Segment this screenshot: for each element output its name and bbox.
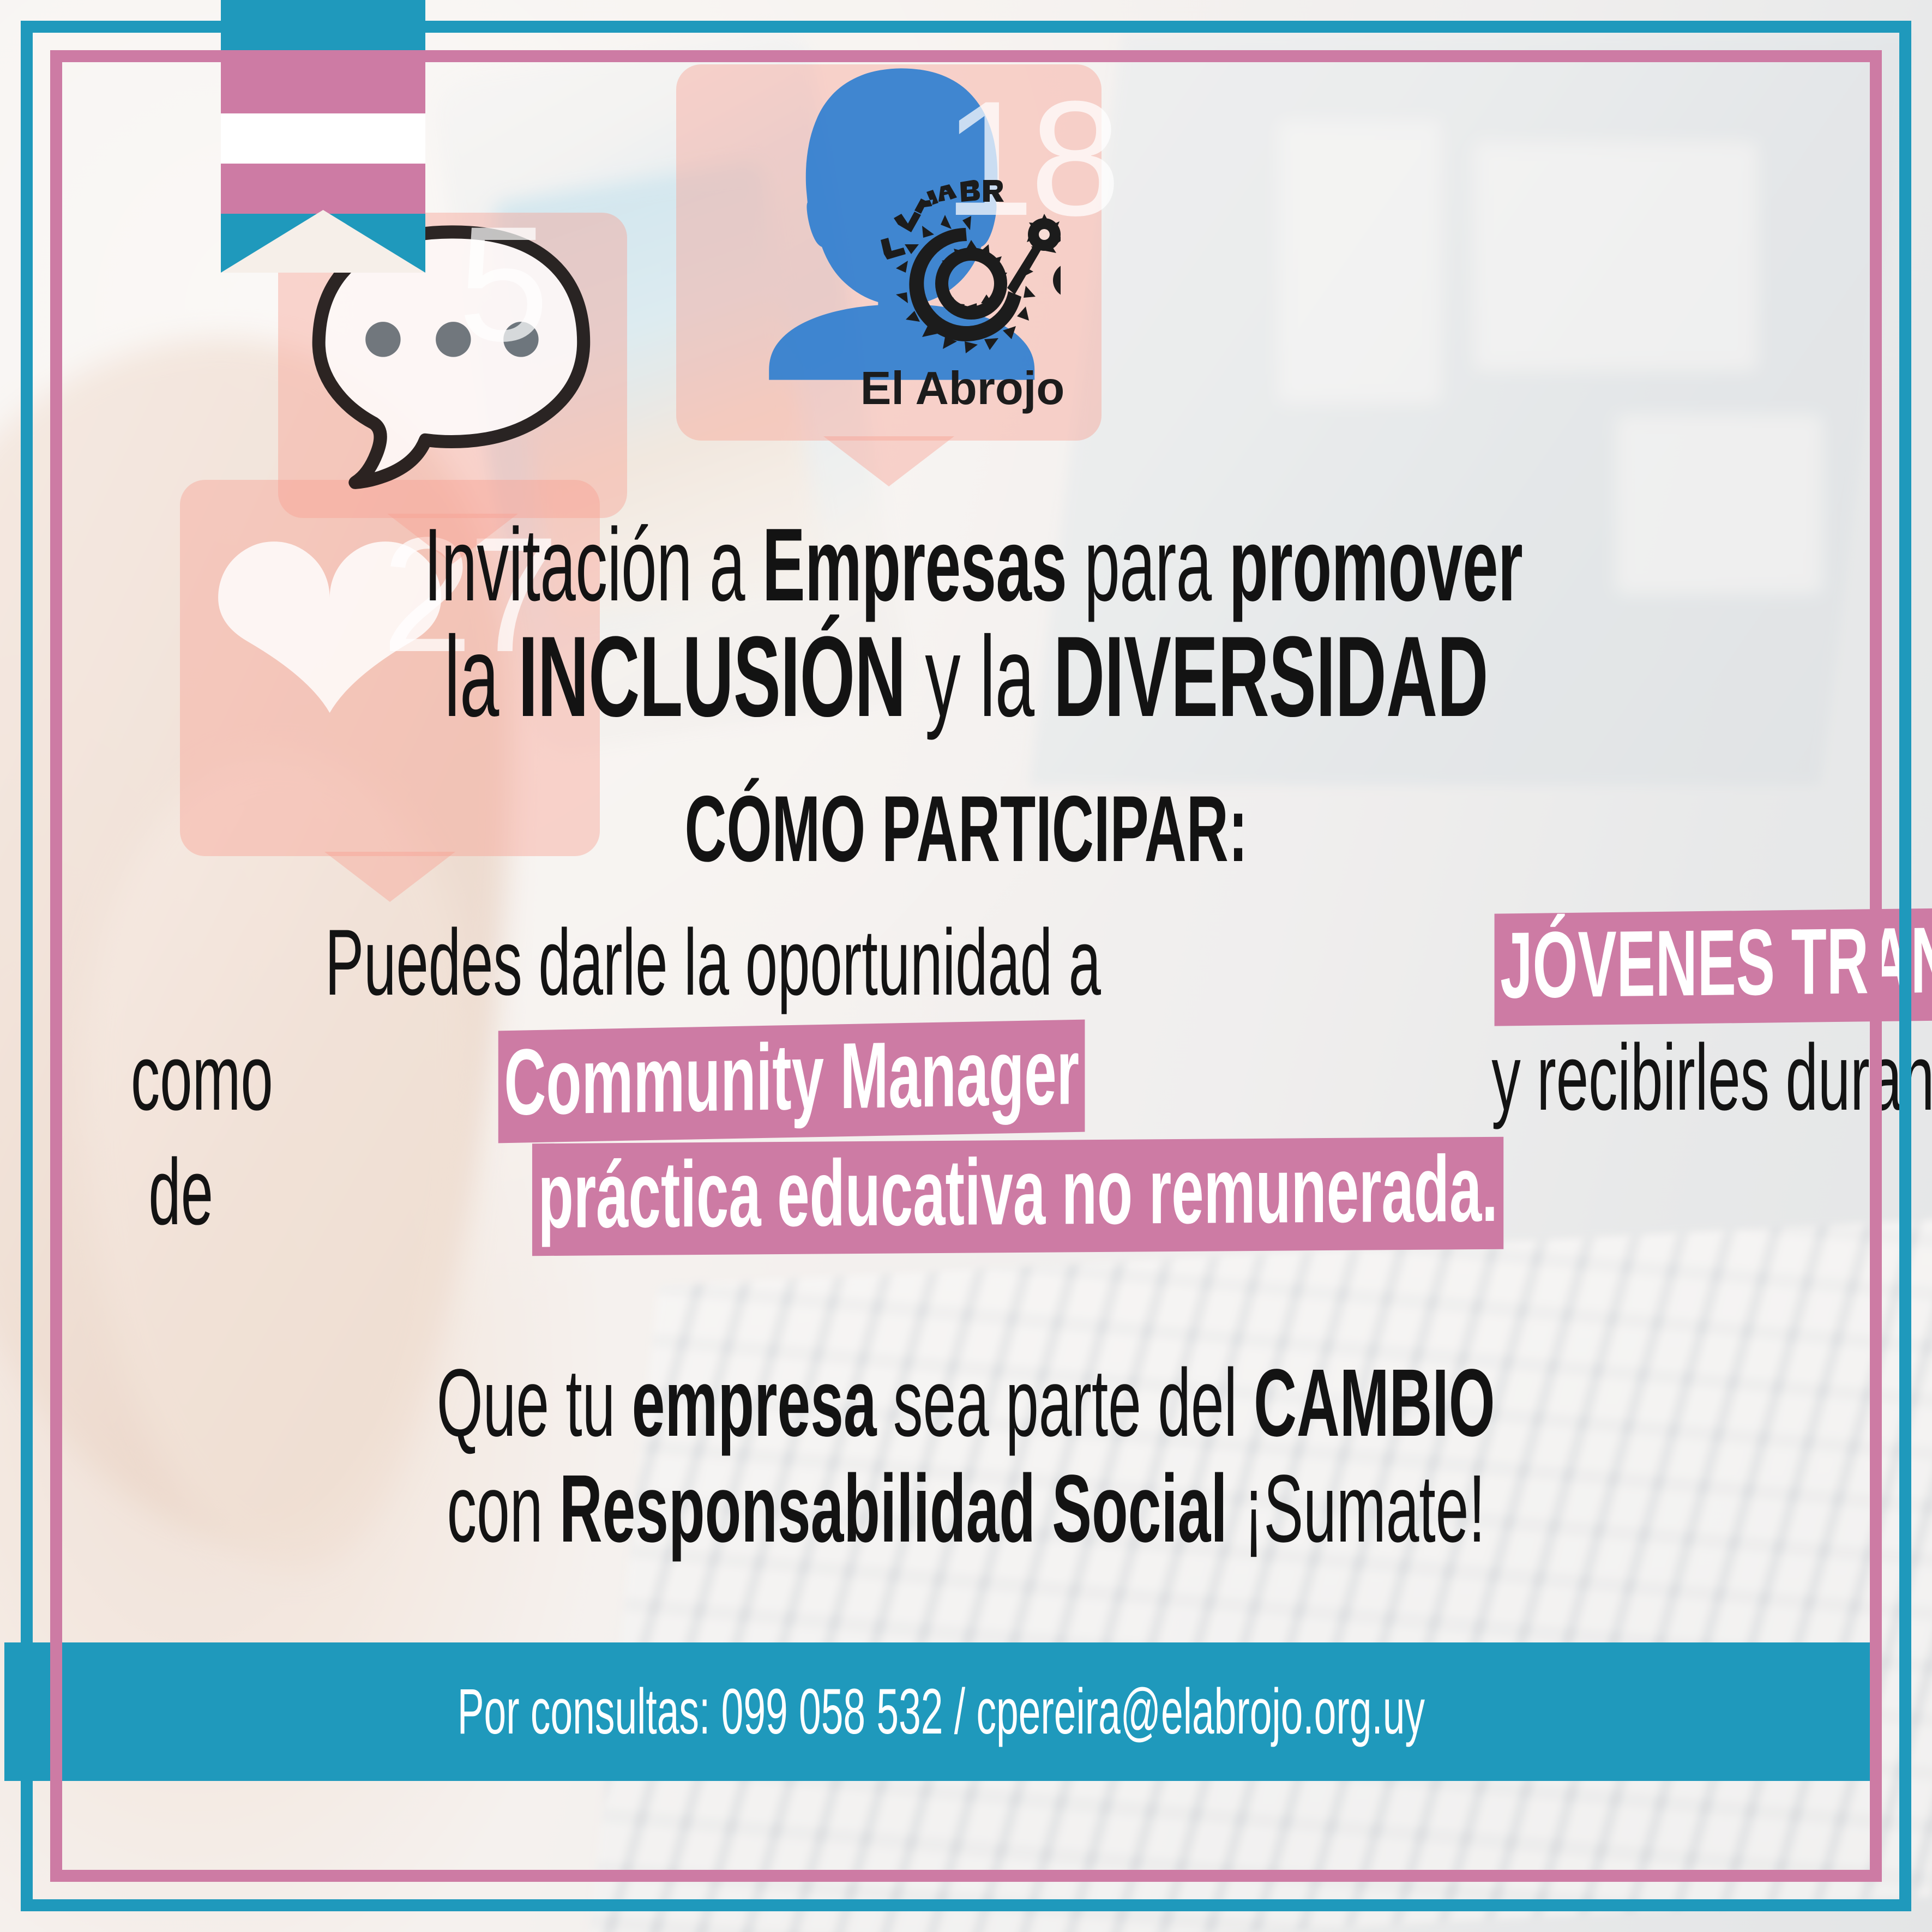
- closing-paragraph: Que tu empresa sea parte del CAMBIO con …: [87, 1351, 1845, 1562]
- closing-l2-b: Responsabilidad Social: [559, 1455, 1227, 1562]
- poster-content: Invitación a Empresas para promover la I…: [87, 513, 1845, 1562]
- ribbon-stripe-white: [221, 113, 425, 164]
- closing-l2-c: ¡Sumate!: [1227, 1455, 1485, 1562]
- closing-l2-a: con: [447, 1455, 559, 1562]
- transgender-pride-ribbon: [221, 0, 425, 273]
- highlight-community-manager: Community Manager: [498, 1020, 1085, 1143]
- ribbon-stripe-pink-bottom: [221, 164, 425, 214]
- poster-canvas: 👤 18 ❤ 27 💬 5: [0, 0, 1932, 1932]
- how-to-participate-title: CÓMO PARTICIPAR:: [87, 782, 1845, 876]
- body-l3-a: de: [148, 1142, 213, 1243]
- headline-l2-b: INCLUSIÓN: [518, 612, 906, 741]
- contact-footer-bar: Por consultas: 099 058 532 / cpereira@el…: [4, 1642, 1877, 1781]
- logo-wordmark: El Abrojo: [848, 362, 1077, 416]
- body-l2-b: y recibirles durante 50 horas: [1491, 1027, 1932, 1129]
- headline-l2-c: y la: [906, 612, 1054, 741]
- how-to-participate-label: CÓMO PARTICIPAR:: [684, 782, 1248, 876]
- body-line-1: Puedes darle la oportunidad a JÓVENES TR…: [87, 911, 1845, 1023]
- headline: Invitación a Empresas para promover la I…: [87, 513, 1845, 735]
- abrojo-burr-icon: [864, 164, 1061, 365]
- contact-info[interactable]: Por consultas: 099 058 532 / cpereira@el…: [161, 1675, 1722, 1749]
- headline-l2-a: la: [444, 612, 518, 741]
- closing-l1-a: Que tu: [437, 1350, 632, 1456]
- body-l2-a: como: [131, 1027, 273, 1129]
- headline-l1-a: Invitación a: [424, 507, 762, 623]
- headline-l1-c: para: [1067, 507, 1229, 623]
- closing-line-1: Que tu empresa sea parte del CAMBIO: [87, 1351, 1845, 1456]
- body-l1-a: Puedes darle la oportunidad a: [325, 912, 1101, 1014]
- highlight-jovenes-trans: JÓVENES TRANS: [1495, 907, 1932, 1026]
- headline-line-2: la INCLUSIÓN y la DIVERSIDAD: [87, 618, 1845, 735]
- headline-l2-d: DIVERSIDAD: [1054, 612, 1488, 741]
- comment-count: 5: [458, 202, 545, 365]
- closing-line-2: con Responsabilidad Social ¡Sumate!: [87, 1456, 1845, 1562]
- body-paragraph: Puedes darle la oportunidad a JÓVENES TR…: [87, 911, 1845, 1253]
- el-abrojo-logo: El Abrojo: [848, 164, 1077, 447]
- body-line-2: como Community Manager y recibirles dura…: [87, 1025, 1845, 1137]
- closing-l1-c: sea parte del: [877, 1350, 1254, 1456]
- closing-l1-d: CAMBIO: [1254, 1350, 1495, 1456]
- contact-info-text: Por consultas: 099 058 532 / cpereira@el…: [457, 1675, 1424, 1749]
- body-line-3: de práctica educativa no remunerada.: [87, 1140, 1845, 1253]
- headline-l1-b: Empresas: [762, 507, 1067, 623]
- ribbon-stripe-blue-top: [221, 0, 425, 60]
- headline-line-1: Invitación a Empresas para promover: [87, 513, 1845, 618]
- closing-l1-b: empresa: [632, 1350, 877, 1456]
- ribbon-stripe-pink-top: [221, 60, 425, 113]
- headline-l1-d: promover: [1229, 507, 1522, 623]
- highlight-practica-educativa: práctica educativa no remunerada.: [532, 1137, 1504, 1256]
